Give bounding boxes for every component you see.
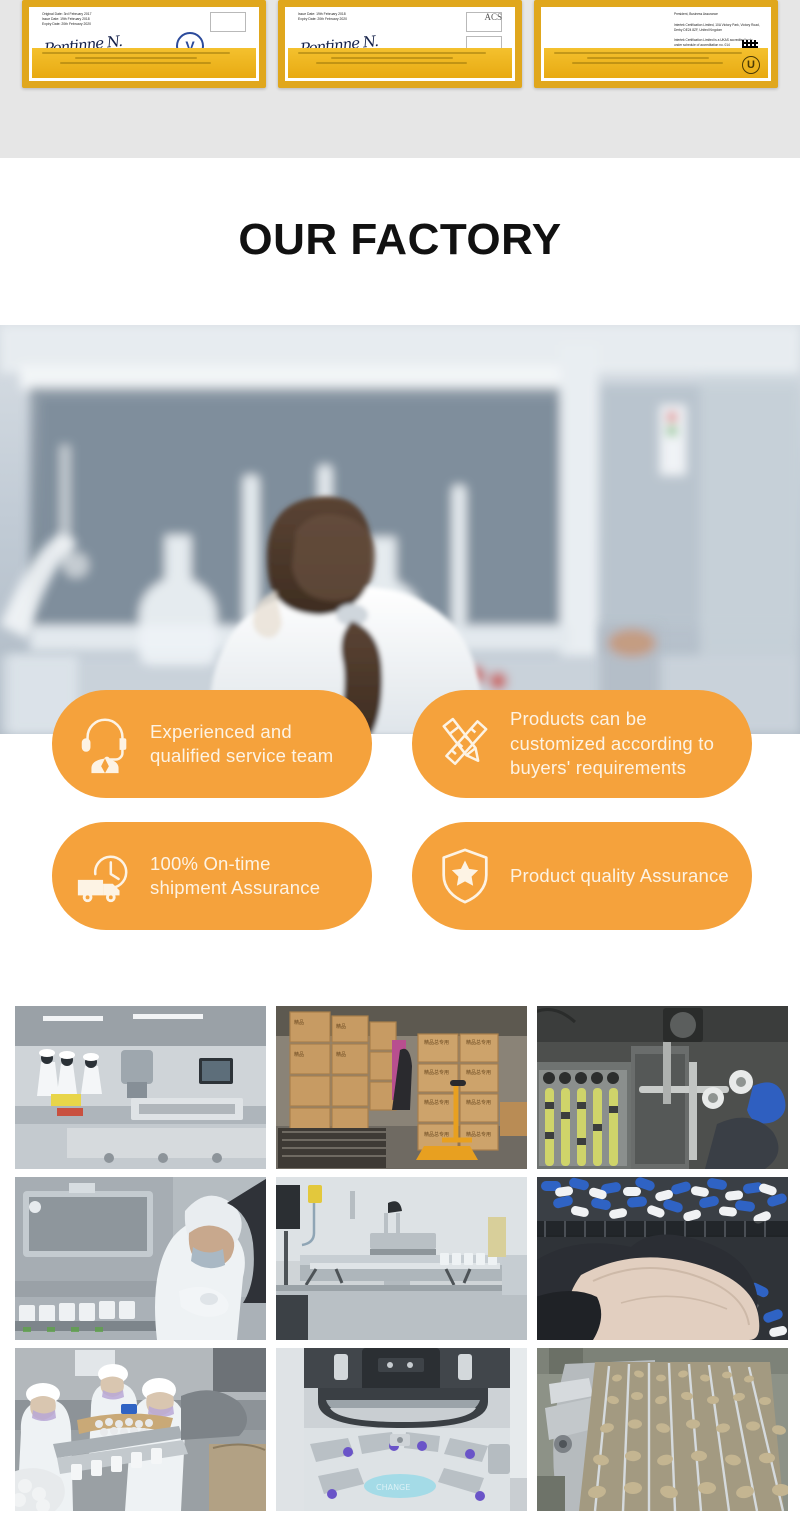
feature-badge-label: Products can be customized according to … bbox=[510, 707, 730, 780]
certificate-card-intertek[interactable]: President, Business Assurance Intertek C… bbox=[534, 0, 778, 88]
svg-text:精品: 精品 bbox=[294, 1051, 304, 1058]
acs-mark-label: ACS bbox=[484, 12, 502, 22]
svg-text:精品总专用: 精品总专用 bbox=[466, 1069, 491, 1076]
truck-clock-icon bbox=[74, 845, 136, 907]
pencil-ruler-icon bbox=[434, 713, 496, 775]
certificate-body: Original Date: 3rd February 2017 Issue D… bbox=[32, 10, 256, 78]
certificates-strip: Original Date: 3rd February 2017 Issue D… bbox=[0, 0, 800, 158]
factory-photo-grid: 精品总专用精品总专用 精品总专用精品总专用 精品总专用精品总专用 精品总专用精品… bbox=[15, 1006, 788, 1511]
certificate-line-2: Intertek Certification Limited, 10A Vict… bbox=[674, 23, 760, 33]
feature-badge-label: Experienced and qualified service team bbox=[150, 720, 350, 769]
certificate-row: Original Date: 3rd February 2017 Issue D… bbox=[0, 0, 800, 88]
certificate-card-tuv[interactable]: Original Date: 3rd February 2017 Issue D… bbox=[22, 0, 266, 88]
certificate-body: President, Business Assurance Intertek C… bbox=[544, 10, 768, 78]
svg-text:CHANGE: CHANGE bbox=[376, 1483, 410, 1492]
svg-text:精品: 精品 bbox=[336, 1051, 346, 1058]
certificate-footer bbox=[32, 48, 256, 78]
svg-text:精品总专用: 精品总专用 bbox=[466, 1039, 491, 1046]
certificate-detail-lines: Original Date: 3rd February 2017 Issue D… bbox=[42, 12, 196, 27]
certificate-line-1: President, Business Assurance bbox=[674, 12, 760, 17]
photo-packing-workers[interactable] bbox=[15, 1348, 266, 1511]
feature-badge-label: Product quality Assurance bbox=[510, 864, 729, 888]
factory-lab-hero-photo bbox=[0, 325, 800, 734]
certificate-footer: U bbox=[544, 48, 768, 78]
certificate-line-3: Expiry Date: 20th February 2020 bbox=[42, 22, 196, 27]
page-title: OUR FACTORY bbox=[0, 215, 800, 265]
photo-encapsulator[interactable]: CHANGE bbox=[276, 1348, 527, 1511]
svg-text:精品: 精品 bbox=[336, 1023, 346, 1030]
feature-badges: Experienced and qualified service team P… bbox=[52, 690, 752, 930]
certificate-line-2: Expiry Date: 20th February 2020 bbox=[298, 17, 452, 22]
svg-text:精品: 精品 bbox=[294, 1019, 304, 1026]
feature-badge-product-quality[interactable]: Product quality Assurance bbox=[412, 822, 752, 930]
feature-badge-label: 100% On-time shipment Assurance bbox=[150, 852, 350, 901]
svg-text:精品总专用: 精品总专用 bbox=[466, 1131, 491, 1138]
shield-star-icon bbox=[434, 845, 496, 907]
feature-badge-experienced-service-team[interactable]: Experienced and qualified service team bbox=[52, 690, 372, 798]
headset-support-agent-icon bbox=[74, 713, 136, 775]
svg-text:精品总专用: 精品总专用 bbox=[424, 1131, 449, 1138]
photo-conveyor-line[interactable] bbox=[276, 1177, 527, 1340]
feature-badge-on-time-shipment[interactable]: 100% On-time shipment Assurance bbox=[52, 822, 372, 930]
svg-text:精品总专用: 精品总专用 bbox=[424, 1099, 449, 1106]
photo-production-line[interactable] bbox=[15, 1006, 266, 1169]
photo-bottling-operator[interactable] bbox=[15, 1177, 266, 1340]
svg-text:精品总专用: 精品总专用 bbox=[424, 1039, 449, 1046]
certificate-detail-lines: Issue Date: 19th February 2018 Expiry Da… bbox=[298, 12, 452, 22]
svg-text:精品总专用: 精品总专用 bbox=[424, 1069, 449, 1076]
certificate-card-acs[interactable]: Issue Date: 19th February 2018 Expiry Da… bbox=[278, 0, 522, 88]
photo-warehouse-boxes[interactable]: 精品总专用精品总专用 精品总专用精品总专用 精品总专用精品总专用 精品总专用精品… bbox=[276, 1006, 527, 1169]
certificate-footer bbox=[288, 48, 512, 78]
feature-badge-customization[interactable]: Products can be customized according to … bbox=[412, 690, 752, 798]
photo-blue-capsules[interactable] bbox=[537, 1177, 788, 1340]
certificate-body: Issue Date: 19th February 2018 Expiry Da… bbox=[288, 10, 512, 78]
certificate-logo-badge bbox=[210, 12, 246, 32]
photo-capsule-machine[interactable] bbox=[537, 1006, 788, 1169]
ukas-mark-icon: U bbox=[742, 56, 760, 74]
svg-text:精品总专用: 精品总专用 bbox=[466, 1099, 491, 1106]
photo-tablet-conveyor[interactable] bbox=[537, 1348, 788, 1511]
